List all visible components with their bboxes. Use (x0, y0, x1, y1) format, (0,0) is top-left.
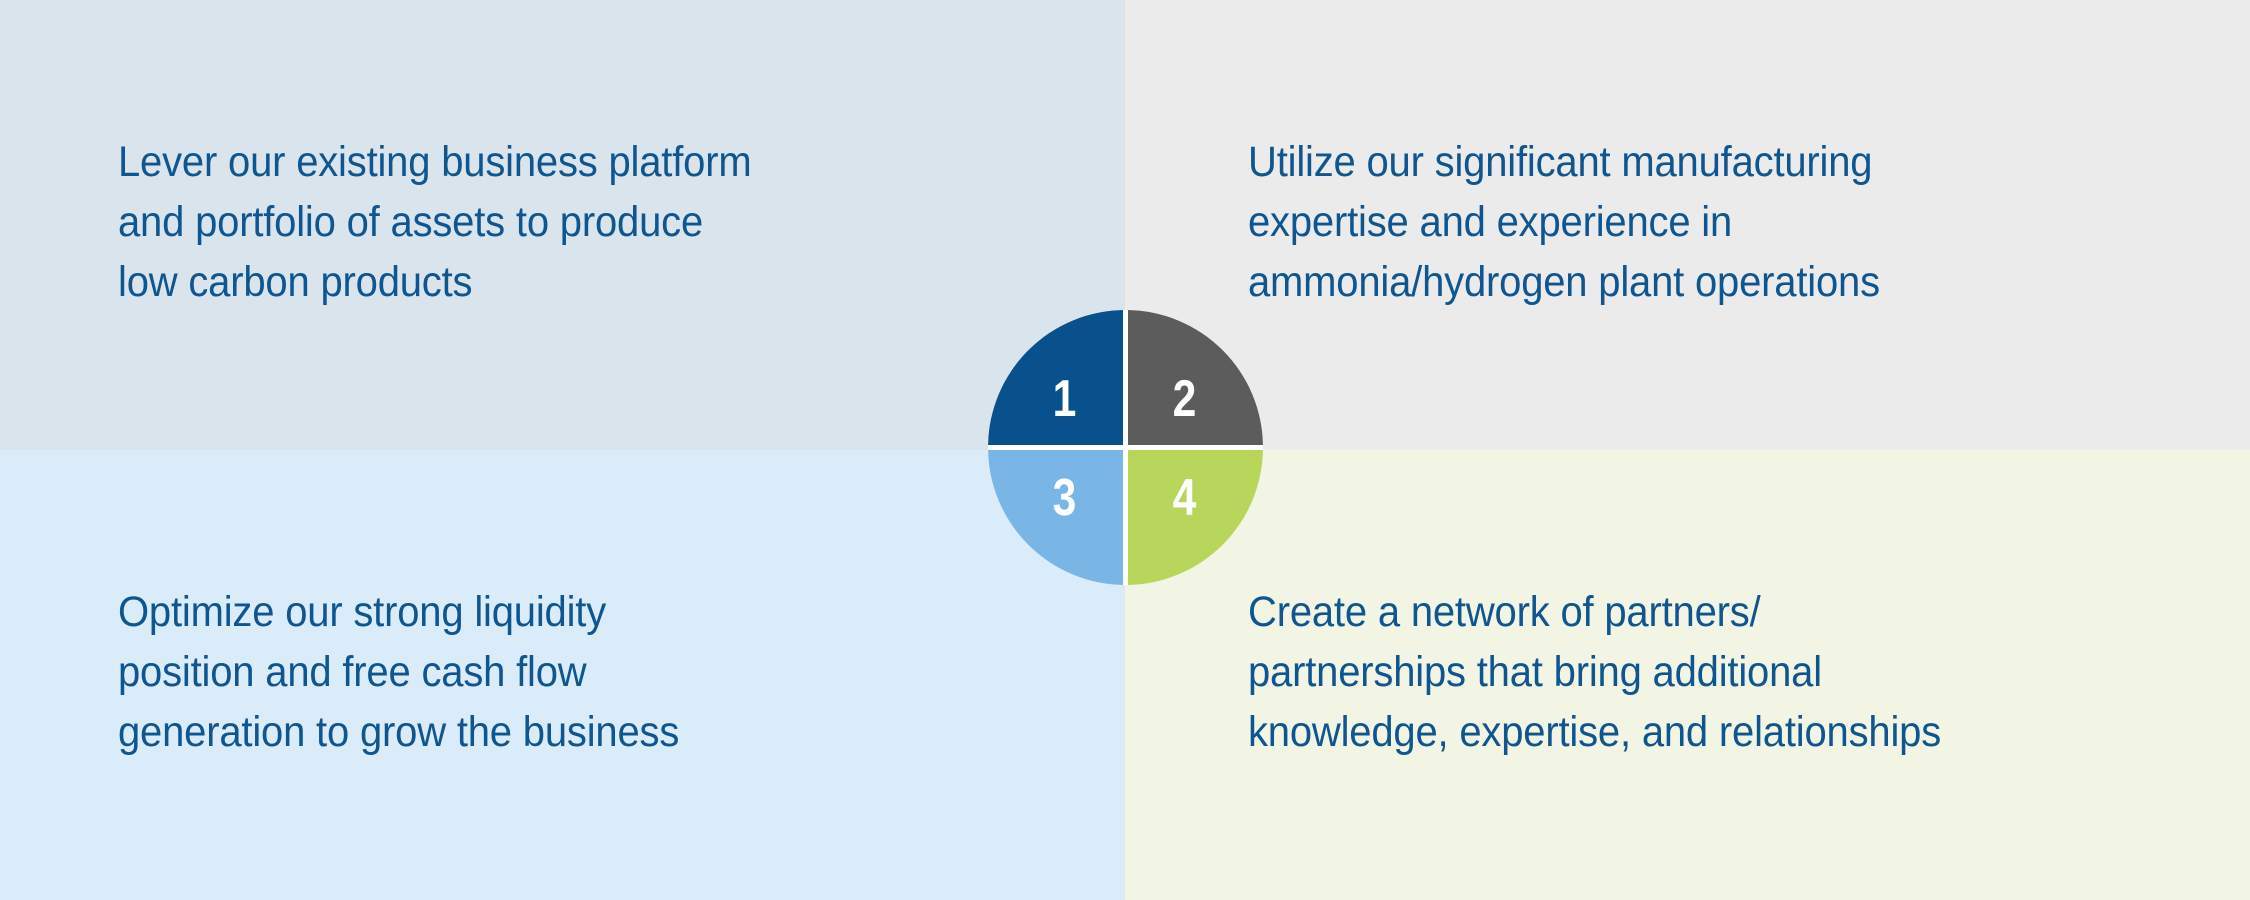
quadrant-panel-2: Utilize our significant manufacturing ex… (1125, 0, 2250, 450)
pinwheel-number-1: 1 (1053, 373, 1077, 425)
quadrant-panel-1: Lever our existing business platform and… (0, 0, 1125, 450)
quadrant-text-1: Lever our existing business platform and… (118, 132, 936, 312)
pinwheel-number-2: 2 (1173, 373, 1197, 425)
quadrant-text-4: Create a network of partners/ partnershi… (1248, 582, 2141, 762)
pinwheel-number-4: 4 (1173, 472, 1197, 524)
quadrant-text-3: Optimize our strong liquidity position a… (118, 582, 890, 762)
slide-canvas: Lever our existing business platform and… (0, 0, 2250, 900)
quadrant-panel-4: Create a network of partners/ partnershi… (1125, 450, 2250, 900)
quadrant-text-2: Utilize our significant manufacturing ex… (1248, 132, 2113, 312)
quadrant-panel-3: Optimize our strong liquidity position a… (0, 450, 1125, 900)
pinwheel-number-3: 3 (1053, 472, 1077, 524)
center-pinwheel: 1 2 3 4 (988, 310, 1263, 585)
